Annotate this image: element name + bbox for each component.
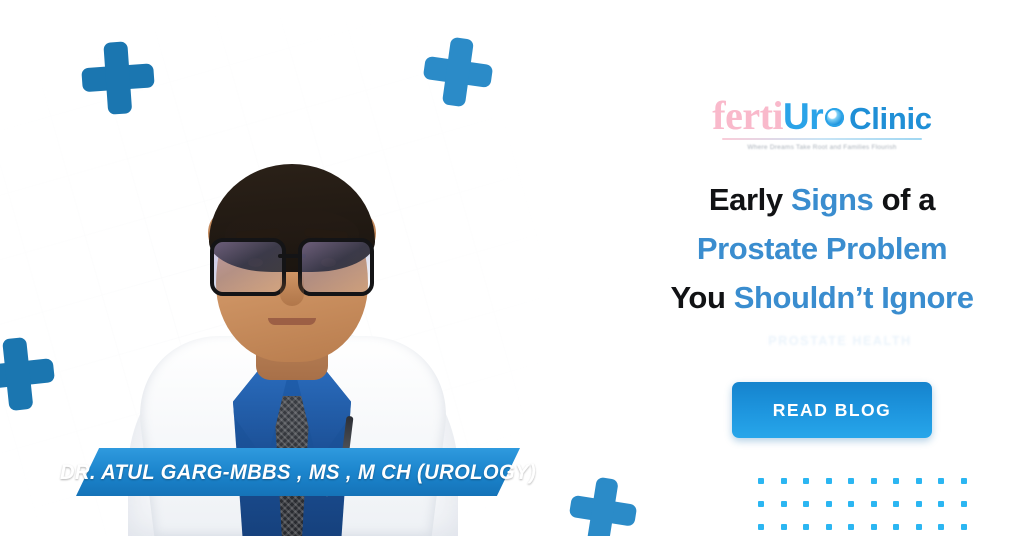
headline-line-3: You Shouldn’t Ignore bbox=[620, 274, 1024, 323]
dot bbox=[871, 501, 877, 507]
dot bbox=[961, 524, 967, 530]
logo-text-clinic: Clinic bbox=[849, 103, 932, 134]
logo-text-uro: Ur bbox=[783, 98, 823, 135]
banner-canvas: DR. ATUL GARG-MBBS , MS , M CH (UROLOGY)… bbox=[0, 0, 1024, 536]
dot bbox=[826, 478, 832, 484]
dot bbox=[803, 478, 809, 484]
mouth bbox=[268, 318, 316, 325]
logo-underline bbox=[722, 138, 922, 140]
headline-word-signs: Signs bbox=[791, 182, 873, 217]
dot bbox=[961, 501, 967, 507]
dot bbox=[916, 501, 922, 507]
dot bbox=[871, 524, 877, 530]
dot bbox=[916, 524, 922, 530]
headline-word-you: You bbox=[670, 280, 733, 315]
ghost-subtitle-artifact: PROSTATE HEALTH bbox=[690, 334, 990, 350]
plus-top-center bbox=[420, 34, 497, 111]
dot bbox=[826, 501, 832, 507]
headline-line-1: Early Signs of a bbox=[620, 176, 1024, 225]
logo-text-ferti: ferti bbox=[712, 96, 783, 136]
doctor-name-text: DR. ATUL GARG-MBBS , MS , M CH (UROLOGY) bbox=[89, 448, 506, 496]
logo-tagline: Where Dreams Take Root and Families Flou… bbox=[672, 144, 972, 151]
lens-right bbox=[298, 238, 374, 296]
dot bbox=[848, 501, 854, 507]
logo-o-ring-icon bbox=[825, 108, 844, 127]
dot bbox=[893, 524, 899, 530]
headline-word-early: Early bbox=[709, 182, 791, 217]
dot bbox=[781, 501, 787, 507]
read-blog-button[interactable]: READ BLOG bbox=[732, 382, 932, 438]
dot bbox=[803, 524, 809, 530]
dot bbox=[848, 524, 854, 530]
dot bbox=[758, 478, 764, 484]
dot bbox=[893, 501, 899, 507]
logo-wordmark: ferti Ur Clinic bbox=[672, 96, 972, 136]
dot bbox=[871, 478, 877, 484]
dot bbox=[938, 524, 944, 530]
dot bbox=[826, 524, 832, 530]
dot bbox=[916, 478, 922, 484]
dot bbox=[893, 478, 899, 484]
plus-left-edge bbox=[0, 334, 58, 413]
dot bbox=[758, 501, 764, 507]
headline-line-2: Prostate Problem bbox=[620, 225, 1024, 274]
content-panel: ferti Ur Clinic Where Dreams Take Root a… bbox=[620, 0, 1024, 536]
dot bbox=[961, 478, 967, 484]
plus-top-left bbox=[80, 40, 157, 117]
dot bbox=[938, 501, 944, 507]
dot-grid-decoration bbox=[758, 478, 983, 536]
dot bbox=[803, 501, 809, 507]
dot bbox=[758, 524, 764, 530]
nose bbox=[280, 272, 304, 306]
page-title: Early Signs of a Prostate Problem You Sh… bbox=[620, 176, 1024, 323]
dot bbox=[938, 478, 944, 484]
headline-word-ofa: of a bbox=[873, 182, 935, 217]
lens-left bbox=[210, 238, 286, 296]
dot bbox=[848, 478, 854, 484]
dot bbox=[781, 478, 787, 484]
headline-word-shouldnt-ignore: Shouldn’t Ignore bbox=[734, 280, 974, 315]
dot bbox=[781, 524, 787, 530]
brand-logo[interactable]: ferti Ur Clinic Where Dreams Take Root a… bbox=[672, 96, 972, 151]
doctor-name-banner: DR. ATUL GARG-MBBS , MS , M CH (UROLOGY) bbox=[76, 448, 520, 496]
